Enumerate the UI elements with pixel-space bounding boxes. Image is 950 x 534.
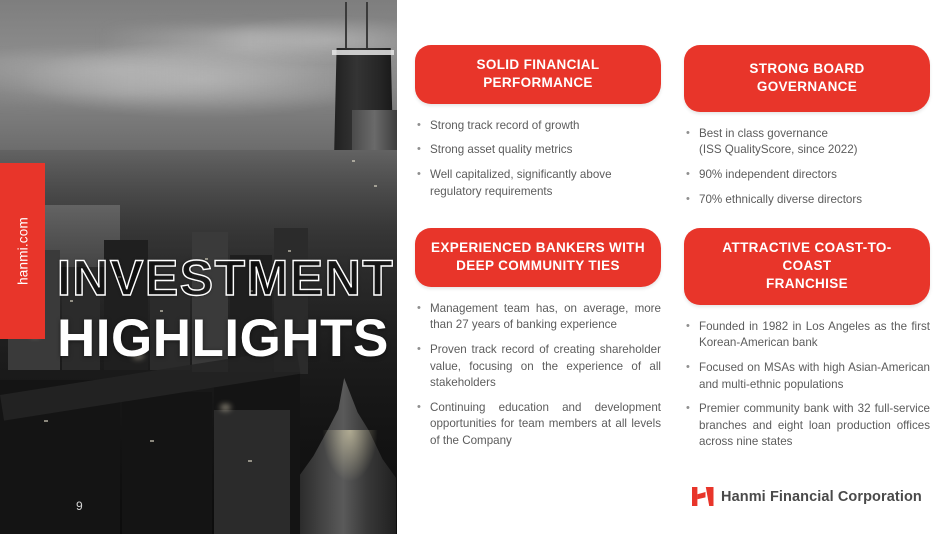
side-tab-label: hanmi.com xyxy=(15,217,30,285)
page-number: 9 xyxy=(76,499,83,513)
window-light xyxy=(374,185,377,187)
title-line-investment: INVESTMENT xyxy=(57,253,394,303)
list-item: Focused on MSAs with high Asian-American… xyxy=(684,360,930,393)
tower-antenna-left xyxy=(345,2,347,50)
list-item: Proven track record of creating sharehol… xyxy=(415,342,661,392)
card-heading-line: EXPERIENCED BANKERS WITH xyxy=(431,240,645,255)
window-light xyxy=(44,420,48,422)
card-heading: EXPERIENCED BANKERS WITH DEEP COMMUNITY … xyxy=(415,228,661,287)
list-item: 70% ethnically diverse directors xyxy=(684,192,930,209)
card-solid-financial-performance: SOLID FINANCIAL PERFORMANCE Strong track… xyxy=(415,45,661,208)
card-heading-line: ATTRACTIVE COAST-TO-COAST xyxy=(722,240,891,273)
list-item: Founded in 1982 in Los Angeles as the fi… xyxy=(684,319,930,352)
list-item: Best in class governance (ISS QualitySco… xyxy=(684,126,930,159)
logo-text: Hanmi Financial Corporation xyxy=(721,489,922,505)
hanmi-h-mark-icon xyxy=(692,487,714,506)
content-panel: SOLID FINANCIAL PERFORMANCE Strong track… xyxy=(397,0,950,534)
title-line-highlights: HIGHLIGHTS xyxy=(57,312,394,366)
card-bullet-list: Founded in 1982 in Los Angeles as the fi… xyxy=(684,319,930,451)
tower-light-band xyxy=(332,50,394,55)
card-attractive-coast-to-coast-franchise: ATTRACTIVE COAST-TO-COAST FRANCHISE Foun… xyxy=(684,228,930,459)
card-heading: SOLID FINANCIAL PERFORMANCE xyxy=(415,45,661,104)
card-experienced-bankers: EXPERIENCED BANKERS WITH DEEP COMMUNITY … xyxy=(415,228,661,458)
spire-uplight xyxy=(322,430,378,482)
list-item: Premier community bank with 32 full-serv… xyxy=(684,401,930,451)
card-bullet-list: Best in class governance (ISS QualitySco… xyxy=(684,126,930,208)
card-heading: STRONG BOARD GOVERNANCE xyxy=(684,45,930,112)
building-block xyxy=(214,410,290,534)
list-item: Strong asset quality metrics xyxy=(415,142,661,159)
card-heading-line: PERFORMANCE xyxy=(483,75,593,90)
list-item: Continuing education and development opp… xyxy=(415,400,661,450)
window-light xyxy=(248,460,252,462)
list-item-line: Best in class governance xyxy=(699,126,930,143)
card-heading-line: FRANCHISE xyxy=(766,276,848,291)
list-item: Strong track record of growth xyxy=(415,118,661,135)
hanmi-side-tab[interactable]: hanmi.com xyxy=(0,163,45,339)
page-title: INVESTMENT HIGHLIGHTS xyxy=(57,253,394,366)
window-light xyxy=(150,440,154,442)
card-bullet-list: Management team has, on average, more th… xyxy=(415,301,661,450)
list-item: Management team has, on average, more th… xyxy=(415,301,661,334)
card-heading-line: SOLID FINANCIAL xyxy=(477,57,600,72)
card-bullet-list: Strong track record of growth Strong ass… xyxy=(415,118,661,200)
list-item: Well capitalized, significantly above re… xyxy=(415,167,661,200)
card-heading-line: DEEP COMMUNITY TIES xyxy=(456,258,620,273)
slide-investment-highlights: hanmi.com INVESTMENT HIGHLIGHTS 9 SOLID … xyxy=(0,0,950,534)
window-light xyxy=(352,160,355,162)
hanmi-logo: Hanmi Financial Corporation xyxy=(692,487,922,506)
card-strong-board-governance: STRONG BOARD GOVERNANCE Best in class go… xyxy=(684,45,930,216)
tower-antenna-right xyxy=(366,2,368,50)
building-block xyxy=(122,392,212,534)
list-item: 90% independent directors xyxy=(684,167,930,184)
list-item-line: (ISS QualityScore, since 2022) xyxy=(699,142,930,159)
card-heading: ATTRACTIVE COAST-TO-COAST FRANCHISE xyxy=(684,228,930,305)
card-heading-line: STRONG BOARD GOVERNANCE xyxy=(749,61,864,94)
street-glow xyxy=(220,404,231,411)
